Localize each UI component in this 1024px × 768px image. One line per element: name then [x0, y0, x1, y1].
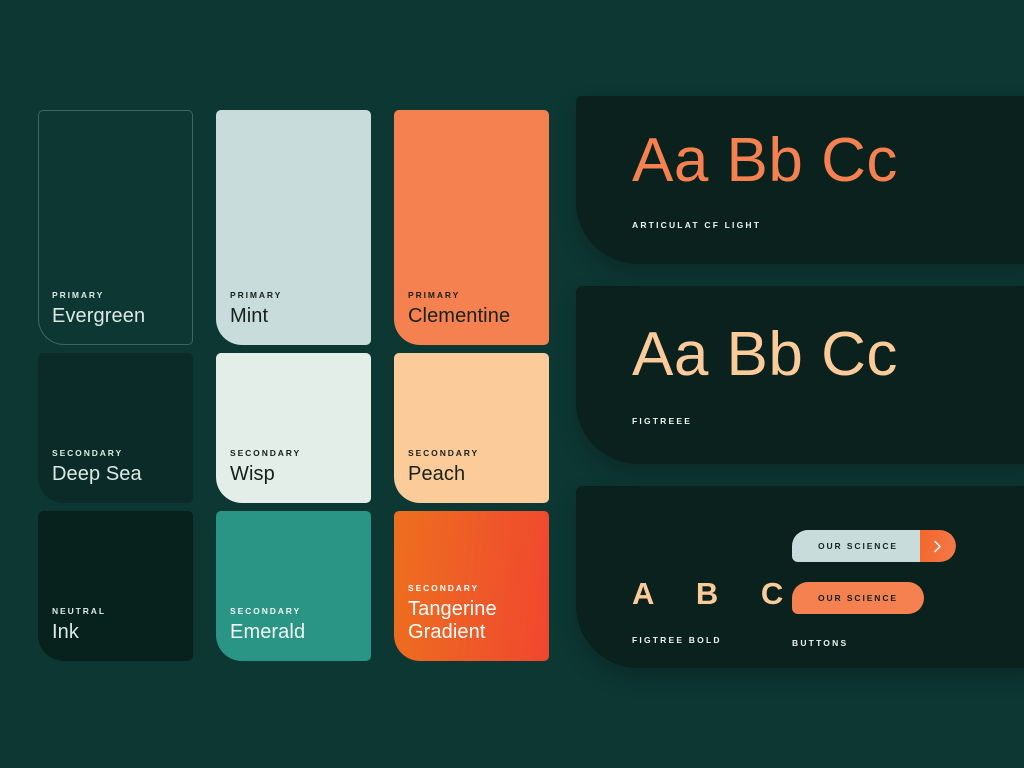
type-specimen-label: ARTICULAT CF LIGHT	[632, 220, 1024, 230]
split-button-body[interactable]: OUR SCIENCE	[792, 530, 920, 562]
swatch-name: Peach	[408, 463, 549, 485]
typography-panels: Aa Bb Cc ARTICULAT CF LIGHT Aa Bb Cc FIG…	[576, 96, 1024, 668]
swatch-peach[interactable]: SECONDARY Peach	[394, 353, 549, 503]
swatch-tier: PRIMARY	[230, 290, 371, 300]
buttons-sample: OUR SCIENCE OUR SCIENCE BUTTONS	[792, 516, 1024, 648]
swatch-clementine[interactable]: PRIMARY Clementine	[394, 110, 549, 345]
solid-button-label: OUR SCIENCE	[818, 593, 898, 603]
swatch-wisp[interactable]: SECONDARY Wisp	[216, 353, 371, 503]
panel-figtree: Aa Bb Cc FIGTREEE	[576, 286, 1024, 464]
swatch-name: Clementine	[408, 305, 549, 327]
bold-glyphs: A B C	[632, 578, 792, 609]
swatch-tier: PRIMARY	[52, 290, 193, 300]
swatch-name: Deep Sea	[52, 463, 193, 485]
swatch-mint[interactable]: PRIMARY Mint	[216, 110, 371, 345]
type-specimen: Aa Bb Cc	[632, 130, 1024, 192]
swatch-name: Evergreen	[52, 305, 193, 327]
swatch-name: Wisp	[230, 463, 371, 485]
swatch-evergreen[interactable]: PRIMARY Evergreen	[38, 110, 193, 345]
our-science-solid-button[interactable]: OUR SCIENCE	[792, 582, 924, 614]
swatch-deep-sea[interactable]: SECONDARY Deep Sea	[38, 353, 193, 503]
swatch-name: Ink	[52, 621, 193, 643]
type-specimen-label: FIGTREEE	[632, 416, 1024, 426]
type-specimen: Aa Bb Cc	[632, 324, 1024, 386]
split-button-label: OUR SCIENCE	[818, 541, 898, 551]
panel-articulat-cf-light: Aa Bb Cc ARTICULAT CF LIGHT	[576, 96, 1024, 264]
panel-buttons-and-bold: A B C FIGTREE BOLD OUR SCIENCE	[576, 486, 1024, 668]
figtree-bold-sample: A B C FIGTREE BOLD	[632, 516, 792, 645]
swatch-emerald[interactable]: SECONDARY Emerald	[216, 511, 371, 661]
swatch-name: Emerald	[230, 621, 371, 643]
swatch-tier: SECONDARY	[408, 448, 549, 458]
chevron-right-icon[interactable]	[920, 530, 956, 562]
swatch-name: Tangerine Gradient	[408, 598, 549, 643]
swatch-tier: SECONDARY	[408, 583, 549, 593]
bold-sample-label: FIGTREE BOLD	[632, 635, 792, 645]
swatch-tier: SECONDARY	[230, 606, 371, 616]
swatch-tier: NEUTRAL	[52, 606, 193, 616]
color-palette-grid: PRIMARY Evergreen PRIMARY Mint PRIMARY C…	[38, 110, 549, 661]
swatch-tier: SECONDARY	[230, 448, 371, 458]
swatch-tier: PRIMARY	[408, 290, 549, 300]
our-science-split-button[interactable]: OUR SCIENCE	[792, 530, 956, 562]
buttons-section-label: BUTTONS	[792, 638, 1024, 648]
swatch-ink[interactable]: NEUTRAL Ink	[38, 511, 193, 661]
swatch-tier: SECONDARY	[52, 448, 193, 458]
style-guide-board: PRIMARY Evergreen PRIMARY Mint PRIMARY C…	[0, 0, 1024, 768]
swatch-name: Mint	[230, 305, 371, 327]
swatch-tangerine-gradient[interactable]: SECONDARY Tangerine Gradient	[394, 511, 549, 661]
